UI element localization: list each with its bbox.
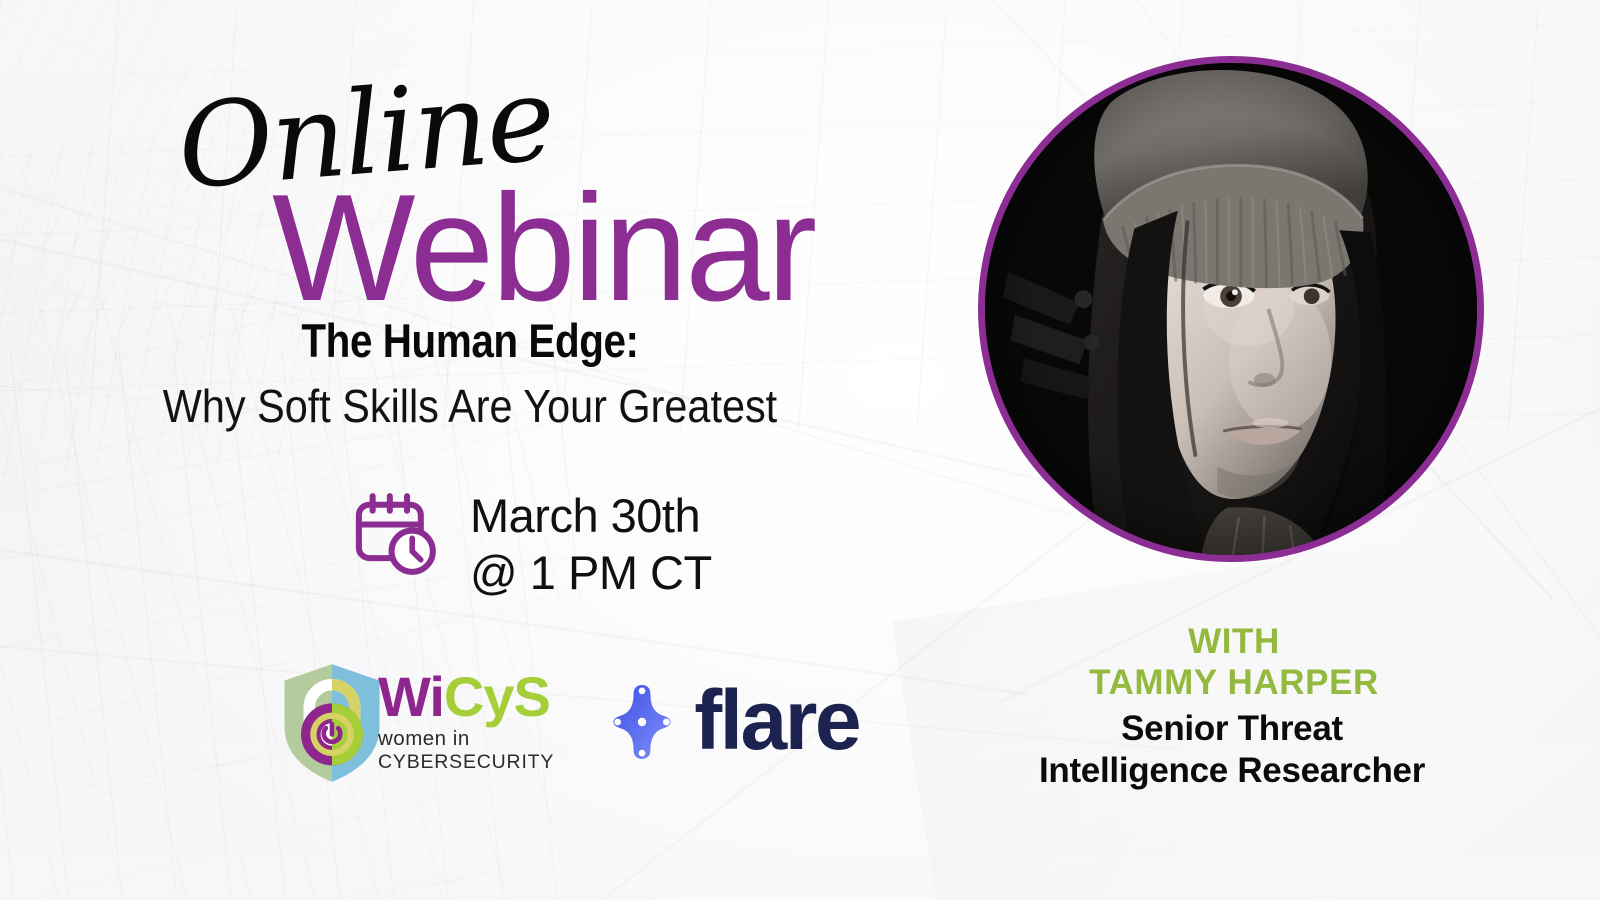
partner-logos: WiCyS women in CYBERSECURITY xyxy=(280,660,859,784)
flare-wordmark: flare xyxy=(694,678,859,762)
flare-logo: flare xyxy=(600,680,859,764)
wicys-logo: WiCyS women in CYBERSECURITY xyxy=(280,660,554,784)
flare-four-point-star-icon xyxy=(600,680,684,764)
speaker-with-label: WITH TAMMY HARPER xyxy=(984,622,1484,704)
wicys-wordmark: WiCyS women in CYBERSECURITY xyxy=(378,670,554,775)
subtitle-primary: The Human Edge: xyxy=(66,316,874,366)
avatar xyxy=(985,63,1477,555)
left-content-column: Online Webinar The Human Edge: Why Soft … xyxy=(0,0,940,900)
speaker-portrait xyxy=(978,56,1484,562)
wicys-tagline-line1: women in xyxy=(378,727,554,751)
subtitle-secondary: Why Soft Skills Are Your Greatest xyxy=(47,382,893,431)
wicys-tagline-line2: CYBERSECURITY xyxy=(378,751,554,774)
wicys-tagline: women in CYBERSECURITY xyxy=(378,727,554,774)
webinar-promo-poster: Online Webinar The Human Edge: Why Soft … xyxy=(0,0,1600,900)
speaker-role: Senior Threat Intelligence Researcher xyxy=(962,708,1502,792)
wicys-name-purple: Wi xyxy=(378,665,444,728)
date-time-block: March 30th @ 1 PM CT xyxy=(352,487,712,602)
wicys-shield-lock-icon xyxy=(280,662,384,784)
wicys-name: WiCyS xyxy=(378,670,554,724)
wicys-name-green: CyS xyxy=(444,665,550,728)
date-time-text: March 30th @ 1 PM CT xyxy=(470,487,712,602)
page-title: Webinar xyxy=(272,172,814,324)
calendar-clock-icon xyxy=(352,491,438,577)
portrait-ring xyxy=(978,56,1484,562)
